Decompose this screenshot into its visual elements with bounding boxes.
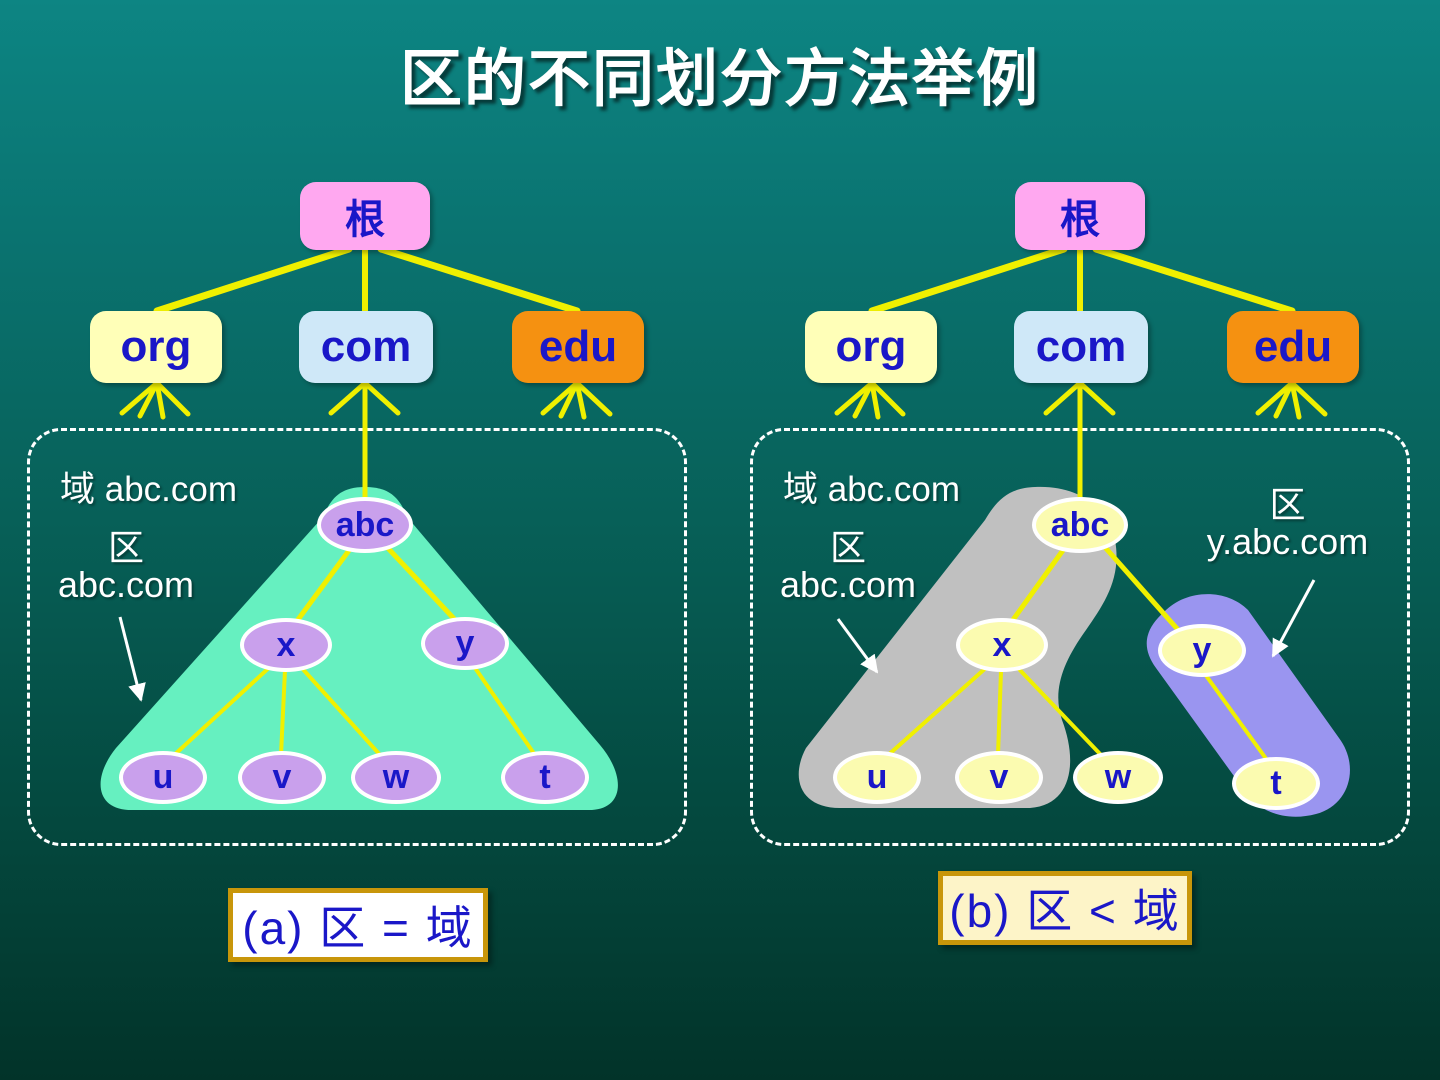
right-node-org-label: org [836,322,907,372]
right-node-edu-label: edu [1254,322,1332,372]
right-node-u[interactable]: u [833,751,921,804]
left-domain-label: 域 abc.com [60,461,237,512]
right-node-root[interactable]: 根 [1015,182,1145,250]
left-zone-label-abc-com: 区 abc.com [46,530,206,603]
right-zone-label-abc-line2: abc.com [768,567,928,604]
left-node-edu[interactable]: edu [512,311,644,383]
right-zone-label-y-line2: y.abc.com [1190,524,1385,561]
left-node-v-label: v [273,758,292,797]
caption-b: (b) 区 < 域 [938,871,1192,945]
right-node-edu[interactable]: edu [1227,311,1359,383]
left-node-u[interactable]: u [119,751,207,804]
left-node-t-label: t [539,758,550,797]
edge-root-org-right [872,249,1064,311]
left-node-y[interactable]: y [421,617,509,670]
right-node-x[interactable]: x [956,618,1048,672]
left-node-edu-label: edu [539,322,617,372]
right-node-abc[interactable]: abc [1032,497,1128,553]
edge-root-edu-right [1096,249,1292,311]
left-node-org[interactable]: org [90,311,222,383]
left-node-root[interactable]: 根 [300,182,430,250]
right-domain-label: 域 abc.com [783,461,960,512]
left-node-abc[interactable]: abc [317,497,413,553]
org-fan-left [122,383,188,417]
right-node-y[interactable]: y [1158,624,1246,677]
left-node-x[interactable]: x [240,618,332,672]
right-node-v-label: v [990,758,1009,797]
left-node-abc-label: abc [336,506,395,545]
right-zone-label-abc-line1: 区 [768,530,928,567]
right-zone-label-abc-com: 区 abc.com [768,530,928,603]
org-fan-right [837,383,903,417]
left-node-w[interactable]: w [351,751,441,804]
caption-a-label: (a) 区 = 域 [242,892,473,958]
left-node-x-label: x [277,626,296,665]
com-fan-right [1046,383,1113,413]
caption-a: (a) 区 = 域 [228,888,488,962]
right-node-t[interactable]: t [1232,757,1320,810]
left-node-u-label: u [153,758,174,797]
slide-canvas: 区的不同划分方法举例 [0,0,1440,1080]
left-node-root-label: 根 [345,187,385,245]
left-node-com-label: com [321,322,411,372]
right-node-w-label: w [1105,758,1131,797]
right-node-v[interactable]: v [955,751,1043,804]
right-node-w[interactable]: w [1073,751,1163,804]
left-node-w-label: w [383,758,409,797]
left-node-v[interactable]: v [238,751,326,804]
right-node-u-label: u [867,758,888,797]
left-node-y-label: y [456,624,475,663]
right-node-y-label: y [1193,631,1212,670]
left-node-org-label: org [121,322,192,372]
edu-fan-left [543,383,610,417]
page-title: 区的不同划分方法举例 [0,28,1440,118]
left-node-t[interactable]: t [501,751,589,804]
edge-root-org [157,249,349,311]
right-node-x-label: x [993,626,1012,665]
left-zone-label-line1: 区 [46,530,206,567]
right-node-root-label: 根 [1060,187,1100,245]
right-node-com-label: com [1036,322,1126,372]
edu-fan-right [1258,383,1325,417]
left-zone-label-line2: abc.com [46,567,206,604]
left-node-com[interactable]: com [299,311,433,383]
right-node-abc-label: abc [1051,506,1110,545]
right-zone-label-y-abc-com: 区 y.abc.com [1190,487,1385,560]
caption-b-label: (b) 区 < 域 [949,875,1180,941]
right-node-com[interactable]: com [1014,311,1148,383]
right-zone-label-y-line1: 区 [1190,487,1385,524]
right-node-t-label: t [1270,764,1281,803]
right-node-org[interactable]: org [805,311,937,383]
com-fan-left [331,383,398,413]
edge-root-edu [381,249,577,311]
